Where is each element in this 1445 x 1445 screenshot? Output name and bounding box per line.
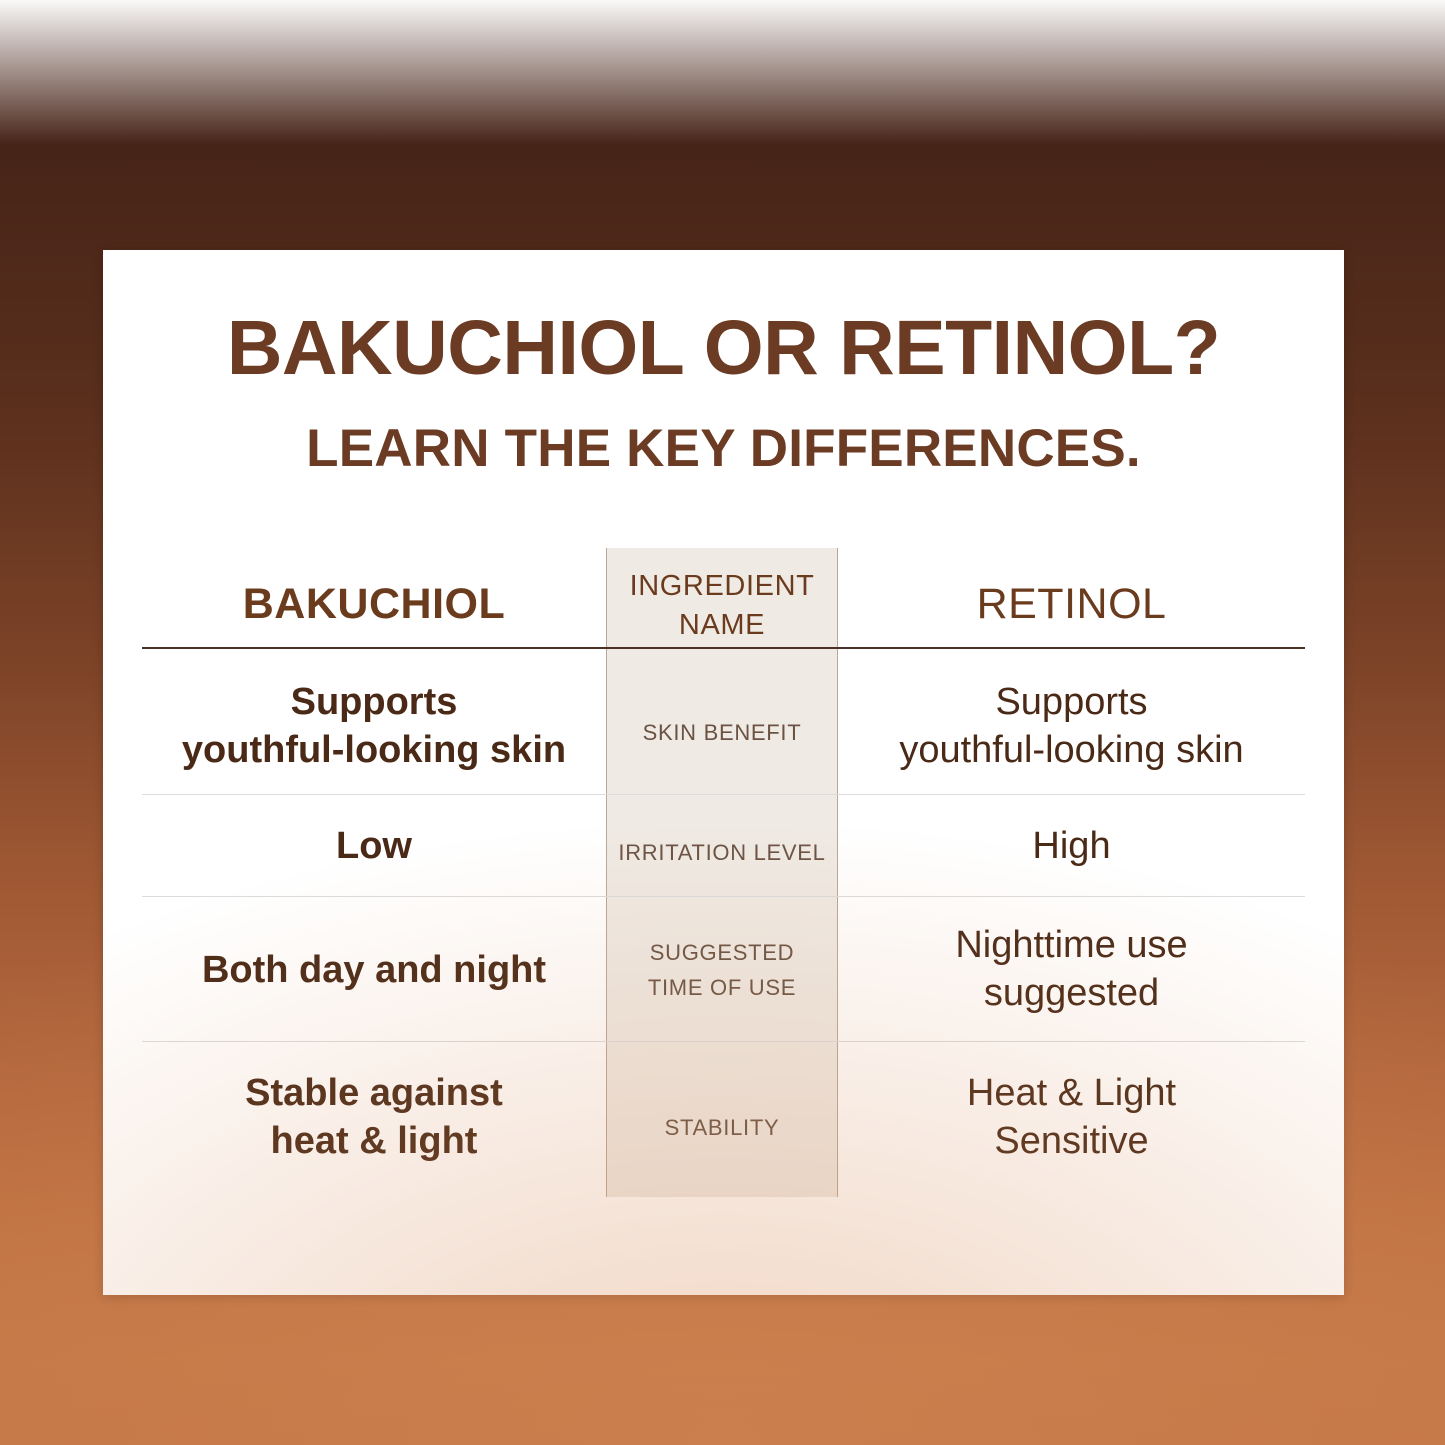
row-divider bbox=[142, 896, 1305, 897]
cell-attribute-line1: IRRITATION LEVEL bbox=[606, 835, 838, 870]
cell-retinol-line1: Nighttime use bbox=[838, 921, 1305, 969]
cell-bakuchiol-line1: Both day and night bbox=[142, 946, 606, 994]
header-divider bbox=[142, 647, 1305, 649]
cell-attribute-line2: TIME OF USE bbox=[606, 970, 838, 1005]
cell-attribute: SKIN BENEFIT bbox=[606, 715, 838, 750]
table-row: Nighttime use suggested bbox=[838, 921, 1305, 1018]
row-divider bbox=[142, 1041, 1305, 1042]
cell-attribute: IRRITATION LEVEL bbox=[606, 835, 838, 870]
cell-bakuchiol-line1: Low bbox=[142, 822, 606, 870]
comparison-table: BAKUCHIOL INGREDIENT NAME RETINOL Suppor… bbox=[103, 250, 1344, 1295]
poster-background: BAKUCHIOL OR RETINOL? LEARN THE KEY DIFF… bbox=[0, 0, 1445, 1445]
table-row: Heat & Light Sensitive bbox=[838, 1069, 1305, 1166]
cell-retinol-line1: Supports bbox=[838, 678, 1305, 726]
cell-attribute: SUGGESTED TIME OF USE bbox=[606, 935, 838, 1005]
cell-attribute: STABILITY bbox=[606, 1110, 838, 1145]
cell-attribute-line1: SKIN BENEFIT bbox=[606, 715, 838, 750]
comparison-card: BAKUCHIOL OR RETINOL? LEARN THE KEY DIFF… bbox=[103, 250, 1344, 1295]
cell-retinol-line2: youthful-looking skin bbox=[838, 726, 1305, 774]
table-row: Low bbox=[142, 822, 606, 870]
cell-retinol-line2: suggested bbox=[838, 969, 1305, 1017]
table-row: High bbox=[838, 822, 1305, 870]
column-header-bakuchiol-label: BAKUCHIOL bbox=[243, 580, 505, 628]
cell-bakuchiol-line1: Supports bbox=[142, 678, 606, 726]
cell-attribute-line1: SUGGESTED bbox=[606, 935, 838, 970]
cell-bakuchiol-line2: youthful-looking skin bbox=[142, 726, 606, 774]
column-header-ingredient-name-line1: INGREDIENT bbox=[606, 567, 838, 606]
cell-retinol-line2: Sensitive bbox=[838, 1117, 1305, 1165]
table-row: Supports youthful-looking skin bbox=[838, 678, 1305, 775]
column-header-bakuchiol: BAKUCHIOL bbox=[142, 581, 606, 637]
cell-retinol-line1: High bbox=[838, 822, 1305, 870]
column-header-ingredient-name: INGREDIENT NAME bbox=[606, 567, 838, 647]
table-row: Stable against heat & light bbox=[142, 1069, 606, 1166]
column-header-retinol-label: RETINOL bbox=[977, 580, 1167, 628]
cell-retinol-line1: Heat & Light bbox=[838, 1069, 1305, 1117]
table-row: Both day and night bbox=[142, 946, 606, 994]
cell-bakuchiol-line1: Stable against bbox=[142, 1069, 606, 1117]
cell-attribute-line1: STABILITY bbox=[606, 1110, 838, 1145]
table-row: Supports youthful-looking skin bbox=[142, 678, 606, 775]
row-divider bbox=[142, 794, 1305, 795]
cell-bakuchiol-line2: heat & light bbox=[142, 1117, 606, 1165]
column-header-ingredient-name-line2: NAME bbox=[606, 606, 838, 645]
column-header-retinol: RETINOL bbox=[838, 581, 1305, 637]
